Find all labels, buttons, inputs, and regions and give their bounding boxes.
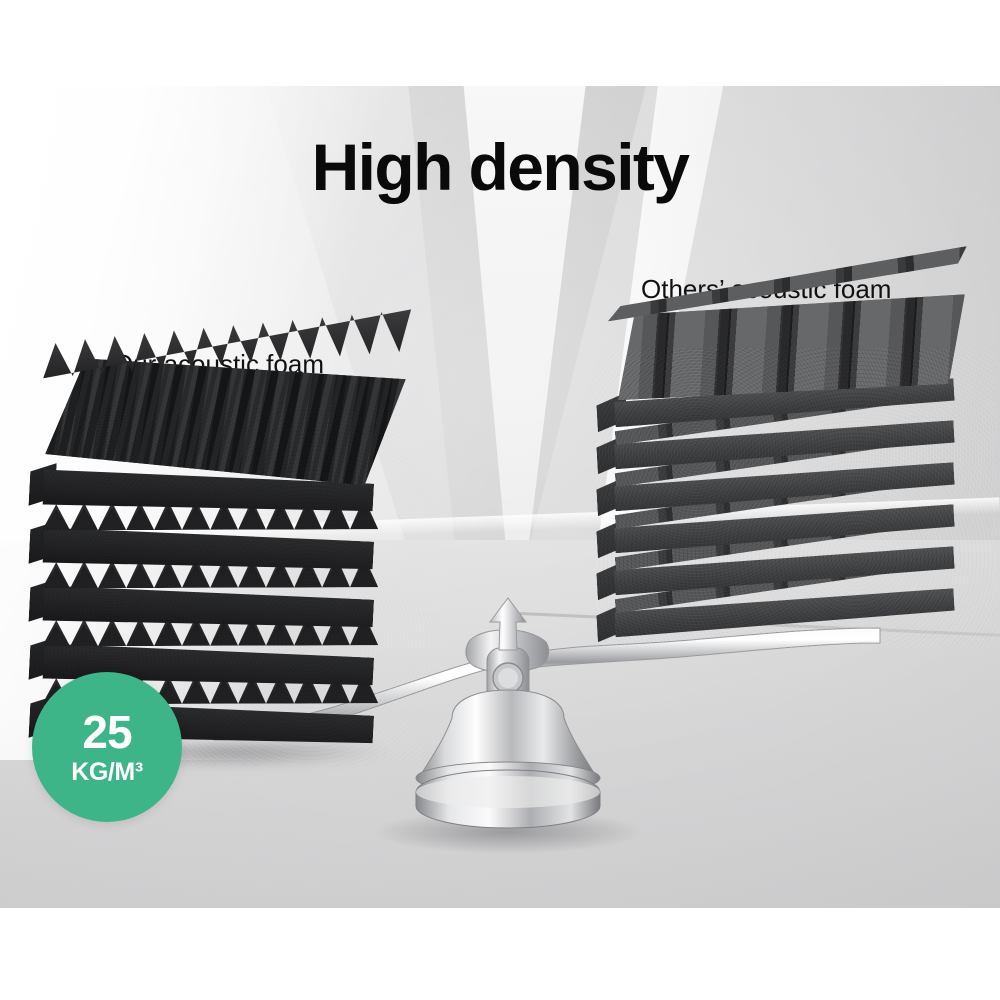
density-badge: 25 KG/M³ [32,672,182,822]
density-badge-value: 25 [82,709,131,755]
others-acoustic-foam-stack [596,348,996,648]
top-white-band [0,0,1000,86]
density-badge-unit: KG/M³ [71,760,143,785]
foam-texture-grain [596,348,996,648]
page-title: High density [0,133,1000,202]
bottom-white-band [0,908,1000,1000]
product-marketing-image: High density Our acoustic foam Others’ a… [0,0,1000,1000]
